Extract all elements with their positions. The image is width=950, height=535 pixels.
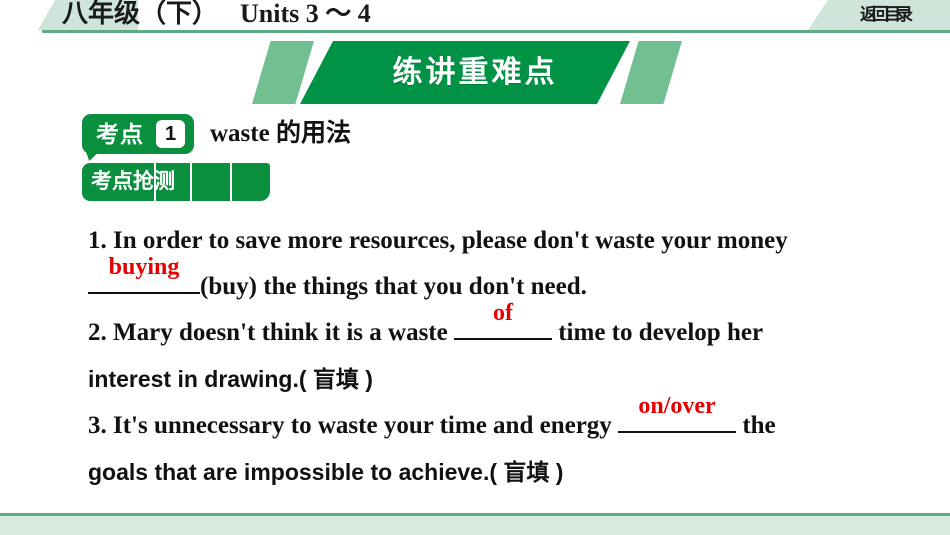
answer-blank-2[interactable]: of [454, 312, 552, 340]
knowledge-point-number-badge: 1 [156, 120, 185, 148]
question-2-text-after: time to develop her [552, 319, 763, 346]
answer-text-3: on/over [618, 383, 736, 429]
question-2-text-line2: interest in drawing.( 盲填 ) [88, 366, 373, 392]
quiz-tag-segment [192, 163, 230, 201]
header-grade-label: 八年级（下） [62, 0, 218, 28]
answer-text-2: of [454, 290, 552, 336]
quiz-tag-segment [232, 163, 270, 201]
page-header: 八年级（下）Units 3 ～ 4 返回目录 [0, 0, 950, 33]
answer-text-1: buying [88, 244, 200, 290]
question-2-line-2: interest in drawing.( 盲填 ) [88, 356, 888, 403]
quiz-tag-group: 考点抢测 [82, 163, 270, 201]
knowledge-point-heading: 考点 1 waste 的用法 [82, 114, 351, 156]
return-to-contents-button[interactable]: 返回目录 [860, 1, 908, 28]
question-1-line-1: 1. In order to save more resources, plea… [88, 218, 888, 264]
question-3-text-after: the [736, 412, 776, 439]
section-banner: 练讲重难点 [0, 41, 950, 104]
question-3-text-line2: goals that are impossible to achieve.( 盲… [88, 459, 563, 485]
question-2-line-1: 2. Mary doesn't think it is a waste of t… [88, 310, 888, 356]
knowledge-point-title: waste 的用法 [210, 114, 351, 154]
knowledge-point-tag-label: 考点 [96, 114, 144, 154]
question-3-line-2: goals that are impossible to achieve.( 盲… [88, 449, 888, 496]
question-3-text-before: 3. It's unnecessary to waste your time a… [88, 412, 618, 439]
questions-list: 1. In order to save more resources, plea… [88, 218, 888, 496]
answer-blank-1[interactable]: buying [88, 266, 200, 294]
answer-blank-3[interactable]: on/over [618, 405, 736, 433]
header-units-label: Units 3 ～ 4 [240, 0, 371, 28]
question-3-line-1: 3. It's unnecessary to waste your time a… [88, 403, 888, 449]
header-divider [42, 30, 950, 33]
quiz-tag-label: 考点抢测 [91, 163, 175, 201]
question-2-text-before: 2. Mary doesn't think it is a waste [88, 319, 454, 346]
banner-title: 练讲重难点 [0, 41, 950, 104]
knowledge-point-tag: 考点 1 [82, 114, 194, 154]
header-title: 八年级（下）Units 3 ～ 4 [62, 0, 371, 29]
footer-strip [0, 516, 950, 535]
